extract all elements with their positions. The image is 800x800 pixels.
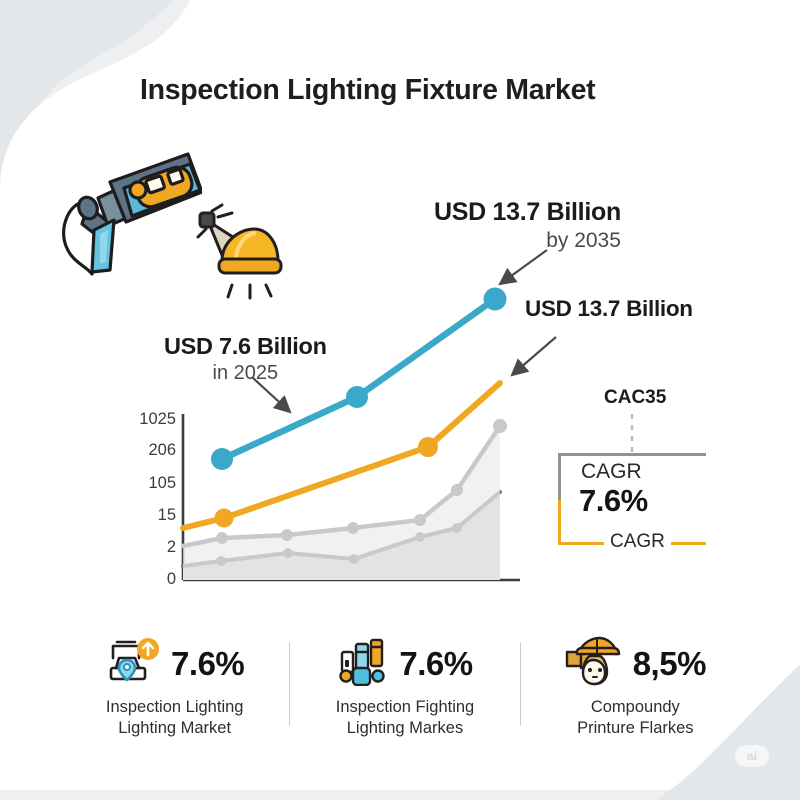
infographic-root: Inspection Lighting Fixture Market [0,0,800,800]
stat-item-2: 7.6% Inspection Fighting Lighting Markes [290,636,519,738]
series-light-gray-area [183,419,507,580]
stat-caption-3: Compoundy Printure Flarkes [577,697,693,738]
inspection-station-icon [105,636,161,691]
lab-vials-icon [337,636,389,691]
stat-value-2: 7.6% [399,645,472,683]
bottom-stats-row: 7.6% Inspection Lighting Lighting Market [60,636,750,756]
cagr-box-accent-left [558,500,561,545]
y-tick-2: 105 [148,474,176,493]
stat-caption-1: Inspection Lighting Lighting Market [106,697,244,738]
stat-value-1: 7.6% [171,645,244,683]
stat-caption-2: Inspection Fighting Lighting Markes [336,697,475,738]
cac35-label: CAC35 [604,387,666,409]
cagr-label: CAGR [581,460,642,484]
y-tick-0: 1025 [139,410,176,429]
worker-hardhat-icon [565,636,623,691]
y-tick-5: 0 [167,570,176,589]
y-tick-4: 2 [167,538,176,557]
y-tick-1: 206 [148,441,176,460]
ai-watermark: ai [735,745,769,767]
stat-item-3: 8,5% Compoundy Printure Flarkes [521,636,750,738]
cagr-value: 7.6% [579,483,648,519]
stat-value-3: 8,5% [633,645,706,683]
cagr-bottom-label: CAGR [604,531,671,553]
stat-item-1: 7.6% Inspection Lighting Lighting Market [60,636,289,738]
annotation-arrows [253,250,556,412]
y-tick-3: 15 [158,506,176,525]
